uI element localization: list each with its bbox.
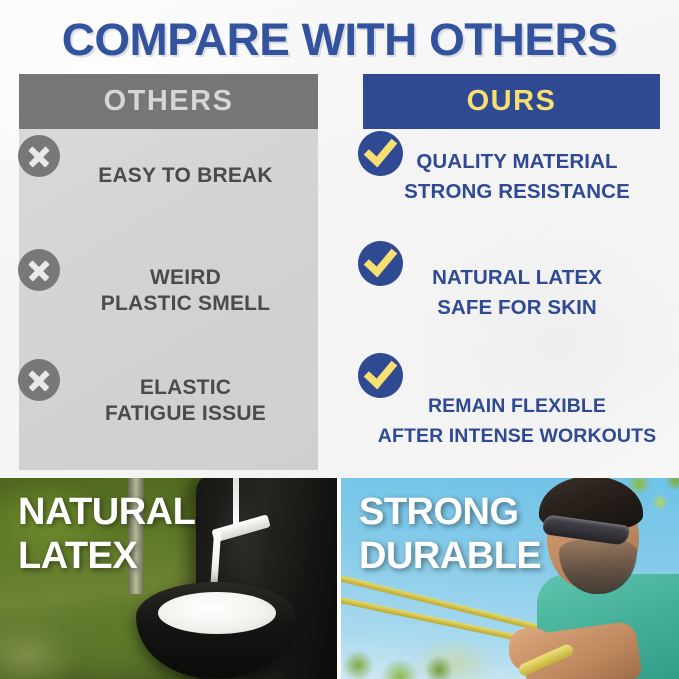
circle-check-icon [358, 241, 403, 286]
list-item: ELASTIC FATIGUE ISSUE [19, 357, 318, 461]
ours-item-line: NATURAL LATEX [355, 263, 679, 293]
ours-list: QUALITY MATERIAL STRONG RESISTANCE NATUR… [355, 131, 679, 471]
list-item: EASY TO BREAK [19, 133, 318, 237]
photo-strip: NATURAL LATEX STRONG [0, 478, 679, 679]
others-item-line: PLASTIC SMELL [53, 291, 318, 317]
others-heading-label: OTHERS [104, 85, 234, 118]
strong-durable-caption: STRONG DURABLE [359, 490, 541, 578]
others-item-label: ELASTIC FATIGUE ISSUE [53, 375, 318, 427]
ours-header-bar: OURS [363, 74, 660, 129]
ours-item-label: QUALITY MATERIAL STRONG RESISTANCE [355, 147, 679, 207]
others-item-label: WEIRD PLASTIC SMELL [53, 265, 318, 317]
natural-latex-caption: NATURAL LATEX [18, 490, 195, 578]
ours-item-line: QUALITY MATERIAL [355, 147, 679, 177]
caption-line: NATURAL [18, 490, 195, 534]
circle-check-icon [358, 353, 403, 398]
comparison-infographic: COMPARE WITH OTHERS OTHERS EASY TO BREAK… [0, 0, 679, 679]
background-bush [341, 621, 481, 679]
others-item-label: EASY TO BREAK [53, 163, 318, 189]
ours-item-line: SAFE FOR SKIN [355, 293, 679, 323]
page-title: COMPARE WITH OTHERS [0, 14, 679, 66]
caption-line: STRONG [359, 490, 541, 534]
circle-check-icon [358, 131, 403, 176]
others-item-line: EASY TO BREAK [98, 164, 273, 187]
latex-liquid [158, 592, 276, 634]
ours-item-line: AFTER INTENSE WORKOUTS [355, 421, 679, 451]
strong-durable-photo: STRONG DURABLE [341, 478, 679, 679]
ours-item-label: NATURAL LATEX SAFE FOR SKIN [355, 263, 679, 323]
others-item-line: ELASTIC [53, 375, 318, 401]
caption-line: DURABLE [359, 534, 541, 578]
others-item-line: FATIGUE ISSUE [53, 401, 318, 427]
ours-item-line: STRONG RESISTANCE [355, 177, 679, 207]
caption-line: LATEX [18, 534, 195, 578]
natural-latex-photo: NATURAL LATEX [0, 478, 337, 679]
ours-heading-label: OURS [467, 85, 557, 118]
ours-item-label: REMAIN FLEXIBLE AFTER INTENSE WORKOUTS [355, 391, 679, 451]
others-item-line: WEIRD [53, 265, 318, 291]
ours-item-line: REMAIN FLEXIBLE [355, 391, 679, 421]
others-list: EASY TO BREAK WEIRD PLASTIC SMELL ELASTI… [19, 129, 318, 470]
others-header-bar: OTHERS [19, 74, 318, 129]
list-item: WEIRD PLASTIC SMELL [19, 247, 318, 351]
